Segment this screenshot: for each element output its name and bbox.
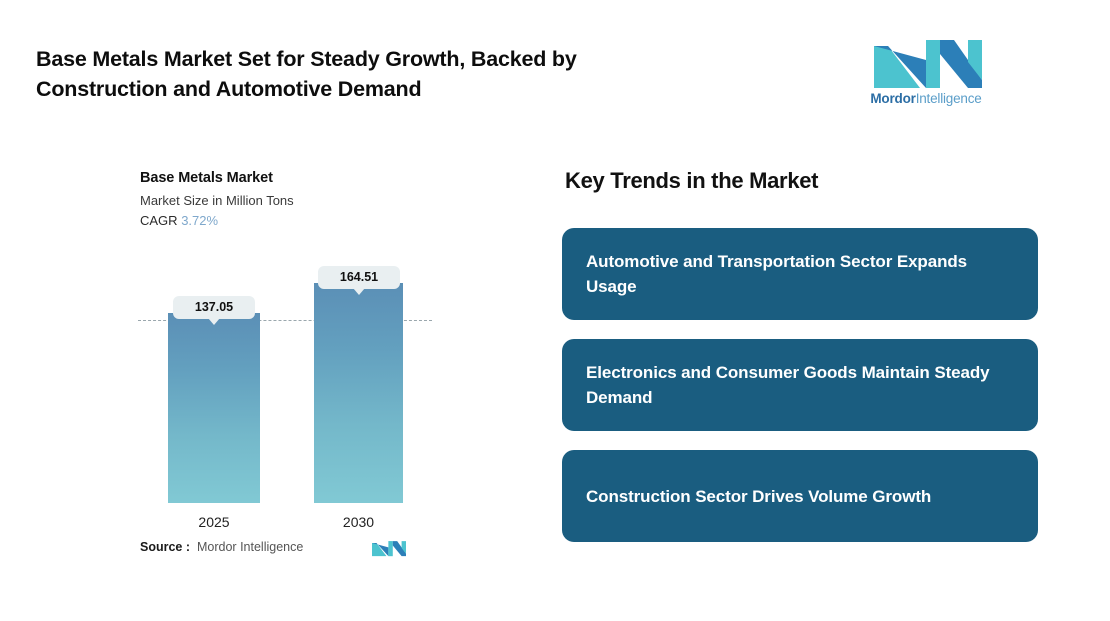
mordor-logo-mark-icon bbox=[874, 36, 982, 88]
mordor-intelligence-logo: MordorIntelligence bbox=[866, 36, 986, 116]
brand-wordmark-bold: Mordor bbox=[870, 91, 915, 106]
trends-heading: Key Trends in the Market bbox=[565, 168, 818, 194]
trend-card[interactable]: Automotive and Transportation Sector Exp… bbox=[562, 228, 1038, 320]
trend-card[interactable]: Electronics and Consumer Goods Maintain … bbox=[562, 339, 1038, 431]
source-label: Source : bbox=[140, 540, 190, 554]
trend-card-text: Construction Sector Drives Volume Growth bbox=[586, 484, 931, 509]
bar-2025[interactable] bbox=[168, 313, 260, 503]
trend-card[interactable]: Construction Sector Drives Volume Growth bbox=[562, 450, 1038, 542]
x-axis-label-2030: 2030 bbox=[314, 514, 403, 530]
page-title: Base Metals Market Set for Steady Growth… bbox=[36, 44, 736, 104]
chart-panel: Base Metals Market Market Size in Millio… bbox=[0, 150, 545, 580]
brand-wordmark-light: Intelligence bbox=[916, 91, 982, 106]
header: Base Metals Market Set for Steady Growth… bbox=[0, 0, 1110, 135]
page-title-line-2: Construction and Automotive Demand bbox=[36, 74, 736, 104]
bar-chart-plot-area: 137.05 164.51 2025 2030 bbox=[0, 150, 545, 580]
source-row: Source : Mordor Intelligence bbox=[140, 538, 430, 560]
bar-2030[interactable] bbox=[314, 283, 403, 503]
x-axis-label-2025: 2025 bbox=[168, 514, 260, 530]
trend-card-text: Electronics and Consumer Goods Maintain … bbox=[586, 360, 1014, 410]
value-badge-2025: 137.05 bbox=[173, 296, 255, 319]
brand-wordmark: MordorIntelligence bbox=[866, 91, 986, 106]
page-title-line-1: Base Metals Market Set for Steady Growth… bbox=[36, 44, 736, 74]
value-badge-2030: 164.51 bbox=[318, 266, 400, 289]
key-trends-panel: Key Trends in the Market Automotive and … bbox=[562, 150, 1042, 570]
source-value: Mordor Intelligence bbox=[197, 540, 303, 554]
trend-card-text: Automotive and Transportation Sector Exp… bbox=[586, 249, 1014, 299]
source-logo-mark-icon bbox=[372, 538, 406, 558]
trends-list: Automotive and Transportation Sector Exp… bbox=[562, 228, 1038, 561]
